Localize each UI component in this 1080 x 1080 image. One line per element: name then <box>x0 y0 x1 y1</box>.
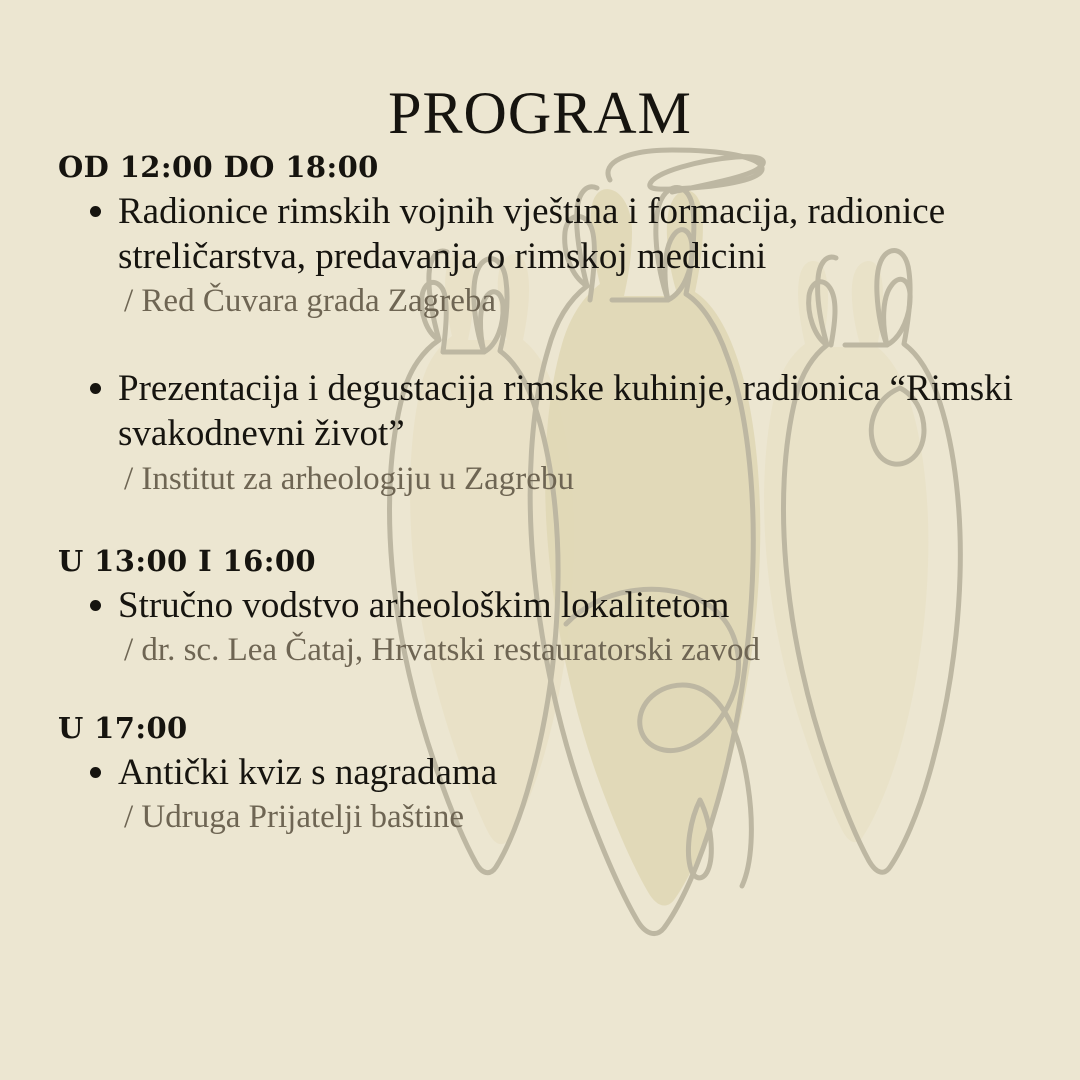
bullet-icon <box>90 600 101 611</box>
list-item: Antički kviz s nagradama / Udruga Prijat… <box>58 750 1048 838</box>
item-title: Prezentacija i degustacija rimske kuhinj… <box>118 366 1048 456</box>
poster-content: PROGRAM OD 12:00 DO 18:00 Radionice rims… <box>0 0 1080 1080</box>
list-item: Stručno vodstvo arheološkim lokalitetom … <box>58 583 1048 671</box>
item-credit: / Red Čuvara grada Zagreba <box>118 281 1048 322</box>
page-title: PROGRAM <box>0 80 1080 146</box>
program-list: OD 12:00 DO 18:00 Radionice rimskih vojn… <box>58 150 1048 838</box>
item-credit: / dr. sc. Lea Čataj, Hrvatski restaurato… <box>118 630 1048 671</box>
item-title: Antički kviz s nagradama <box>118 750 1048 795</box>
bullet-icon <box>90 206 101 217</box>
section-items: Radionice rimskih vojnih vještina i form… <box>58 189 1048 500</box>
program-section: U 17:00 Antički kviz s nagradama / Udrug… <box>58 711 1048 838</box>
section-heading-time: OD 12:00 DO 18:00 <box>58 150 1048 185</box>
program-section: OD 12:00 DO 18:00 Radionice rimskih vojn… <box>58 150 1048 500</box>
item-credit: / Udruga Prijatelji baštine <box>118 797 1048 838</box>
bullet-icon <box>90 383 101 394</box>
section-items: Stručno vodstvo arheološkim lokalitetom … <box>58 583 1048 671</box>
section-heading-time: U 17:00 <box>58 711 1048 746</box>
section-items: Antički kviz s nagradama / Udruga Prijat… <box>58 750 1048 838</box>
item-title: Stručno vodstvo arheološkim lokalitetom <box>118 583 1048 628</box>
program-section: U 13:00 I 16:00 Stručno vodstvo arheološ… <box>58 544 1048 671</box>
bullet-icon <box>90 767 101 778</box>
program-poster: PROGRAM OD 12:00 DO 18:00 Radionice rims… <box>0 0 1080 1080</box>
item-title: Radionice rimskih vojnih vještina i form… <box>118 189 1048 279</box>
section-heading-time: U 13:00 I 16:00 <box>58 544 1048 579</box>
item-credit: / Institut za arheologiju u Zagrebu <box>118 459 1048 500</box>
list-item: Prezentacija i degustacija rimske kuhinj… <box>58 366 1048 500</box>
list-item: Radionice rimskih vojnih vještina i form… <box>58 189 1048 323</box>
